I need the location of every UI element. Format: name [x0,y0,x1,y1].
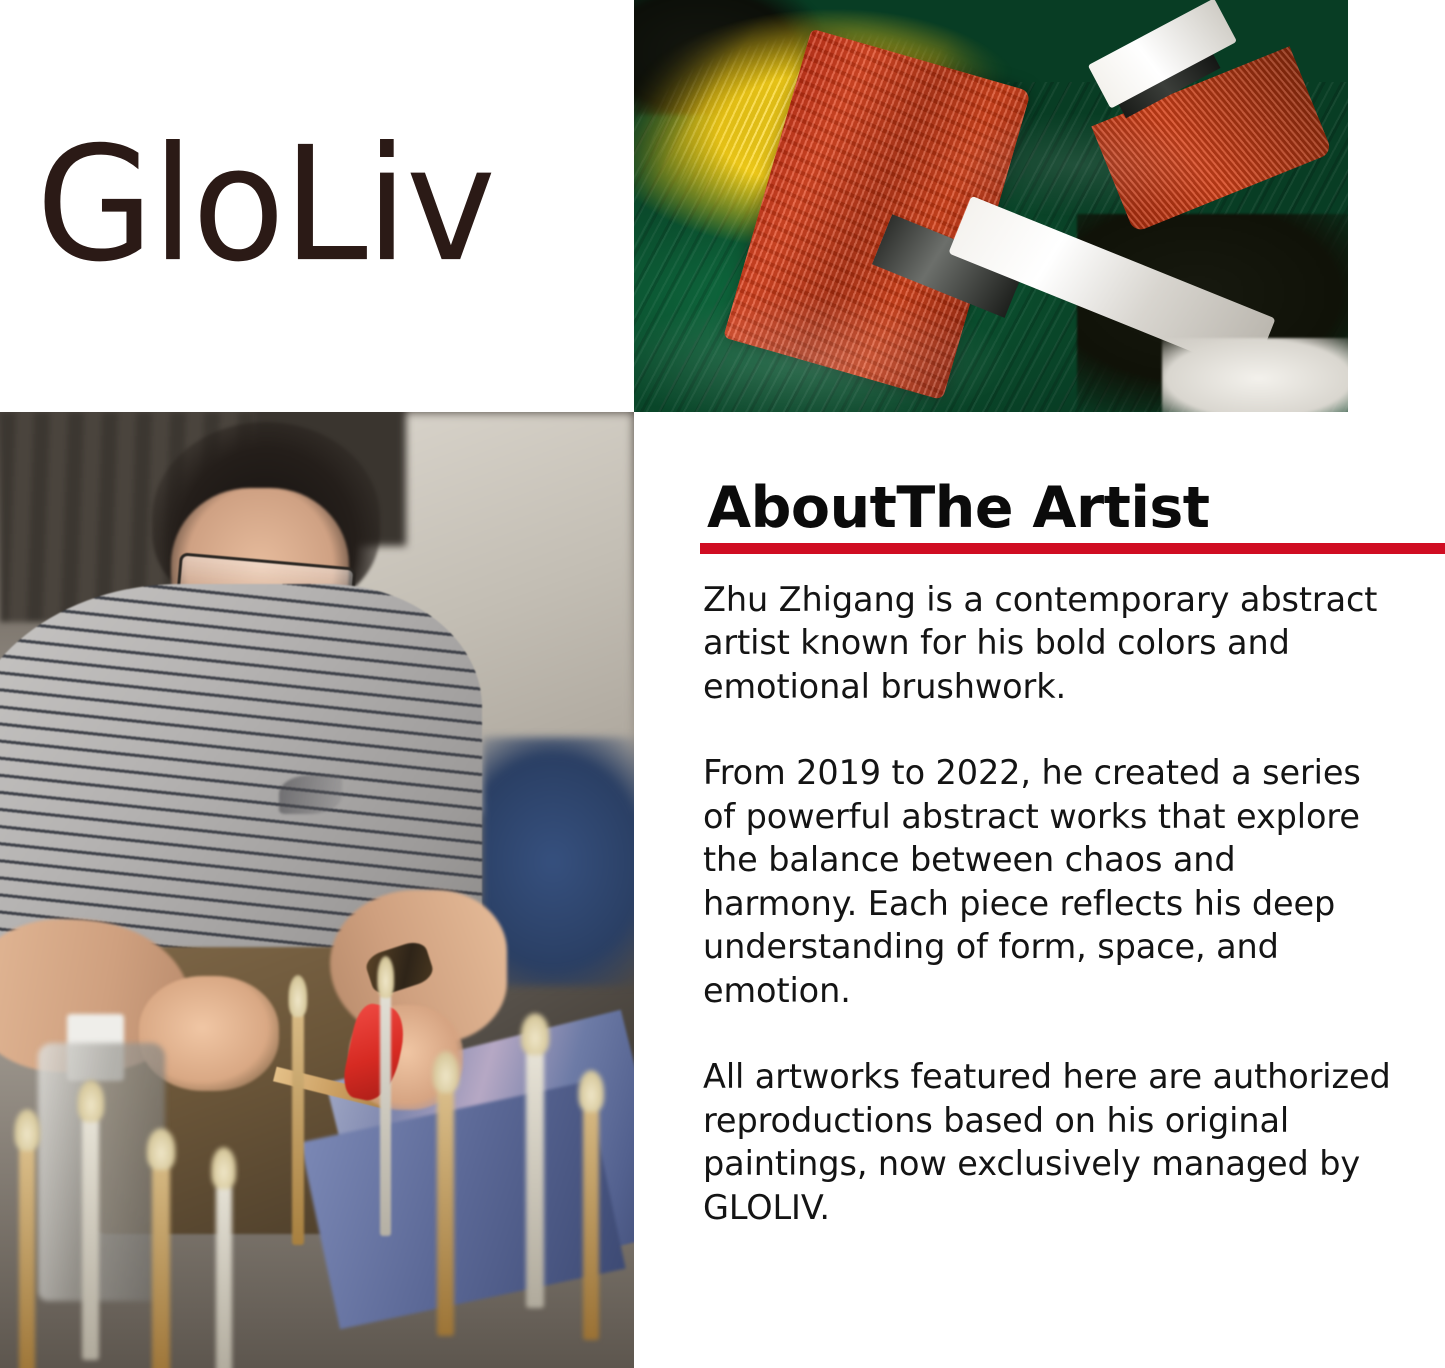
brush-tip [432,1051,459,1093]
about-paragraph-2: From 2019 to 2022, he created a series o… [703,751,1393,1012]
solvent-bottle [38,1043,165,1301]
sweater-chest-logo [279,775,342,813]
brush-tip [288,975,307,1017]
brush-foreground-1 [292,1005,304,1245]
brush-tip [77,1080,104,1122]
brush-tip [147,1128,176,1170]
about-body-text: Zhu Zhigang is a contemporary abstract a… [703,578,1393,1230]
paint-gloss-overlay [634,0,1348,412]
artist-at-work-photo [0,412,634,1368]
page-title: AboutThe Artist [707,478,1393,540]
brush-foreground-6 [216,1177,232,1368]
brush-foreground-5 [152,1158,170,1368]
title-underline-rule [700,543,1445,554]
brush-foreground-3 [19,1139,35,1368]
brush-foreground-2 [380,986,391,1236]
about-the-artist-section: AboutThe Artist Zhu Zhigang is a contemp… [703,478,1393,1229]
brand-logo-text: GloLiv [0,126,494,284]
brush-tip [377,956,395,998]
brush-foreground-4 [82,1110,99,1360]
brush-foreground-9 [583,1100,599,1340]
brush-tip [578,1070,604,1112]
brush-tip [14,1109,40,1151]
brush-tip [211,1147,237,1189]
about-paragraph-1: Zhu Zhigang is a contemporary abstract a… [703,578,1393,709]
brush-tip [521,1013,550,1055]
about-paragraph-3: All artworks featured here are authorize… [703,1055,1393,1229]
brush-foreground-8 [526,1043,544,1308]
about-the-artist-page: GloLiv [0,0,1445,1368]
brand-logo: GloLiv [0,105,620,305]
brush-foreground-7 [437,1081,454,1336]
paint-brushes-photo [634,0,1348,412]
